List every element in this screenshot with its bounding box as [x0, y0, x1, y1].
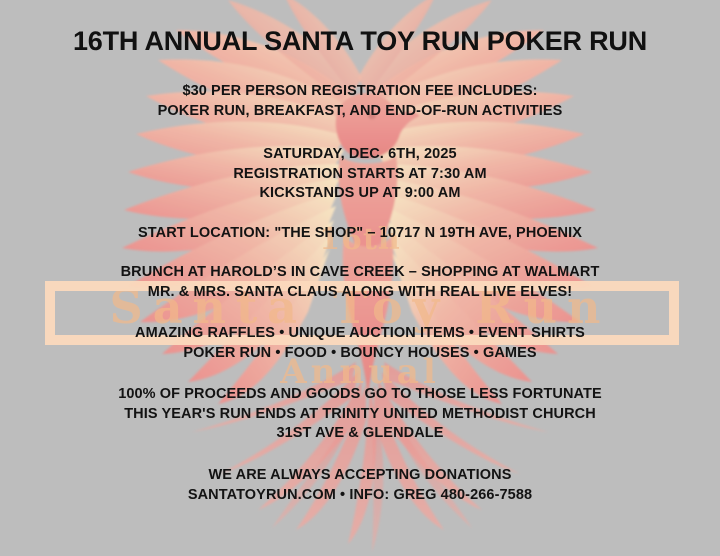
text-line: MR. & MRS. SANTA CLAUS ALONG WITH REAL L… [0, 283, 720, 303]
text-line: KICKSTANDS UP AT 9:00 AM [0, 184, 720, 204]
flyer-text: 16TH ANNUAL SANTA TOY RUN POKER RUN $30 … [0, 0, 720, 556]
website-and-phone: SANTATOYRUN.COM • INFO: GREG 480-266-758… [0, 486, 720, 506]
text-line: START LOCATION: "THE SHOP" – 10717 N 19T… [0, 224, 720, 244]
text-line: THIS YEAR'S RUN ENDS AT TRINITY UNITED M… [0, 405, 720, 425]
event-flyer: 16th Santa Toy Run Annual 16TH ANNUAL SA… [0, 0, 720, 556]
text-line: REGISTRATION STARTS AT 7:30 AM [0, 165, 720, 185]
start-location-block: START LOCATION: "THE SHOP" – 10717 N 19T… [0, 224, 720, 244]
text-line: POKER RUN, BREAKFAST, AND END-OF-RUN ACT… [0, 102, 720, 122]
text-line: POKER RUN • FOOD • BOUNCY HOUSES • GAMES [0, 344, 720, 364]
registration-fee-block: $30 PER PERSON REGISTRATION FEE INCLUDES… [0, 82, 720, 121]
proceeds-and-finish-block: 100% OF PROCEEDS AND GOODS GO TO THOSE L… [0, 385, 720, 444]
text-line: SATURDAY, DEC. 6TH, 2025 [0, 145, 720, 165]
text-line: 100% OF PROCEEDS AND GOODS GO TO THOSE L… [0, 385, 720, 405]
text-line: $30 PER PERSON REGISTRATION FEE INCLUDES… [0, 82, 720, 102]
date-and-times-block: SATURDAY, DEC. 6TH, 2025 REGISTRATION ST… [0, 145, 720, 204]
stops-and-guests-block: BRUNCH AT HAROLD’S IN CAVE CREEK – SHOPP… [0, 263, 720, 302]
text-line: BRUNCH AT HAROLD’S IN CAVE CREEK – SHOPP… [0, 263, 720, 283]
page-title: 16TH ANNUAL SANTA TOY RUN POKER RUN [0, 26, 720, 57]
donations-and-contact-block: WE ARE ALWAYS ACCEPTING DONATIONS SANTAT… [0, 466, 720, 505]
text-line: WE ARE ALWAYS ACCEPTING DONATIONS [0, 466, 720, 486]
activities-block: AMAZING RAFFLES • UNIQUE AUCTION ITEMS •… [0, 324, 720, 363]
text-line: 31ST AVE & GLENDALE [0, 424, 720, 444]
text-line: AMAZING RAFFLES • UNIQUE AUCTION ITEMS •… [0, 324, 720, 344]
